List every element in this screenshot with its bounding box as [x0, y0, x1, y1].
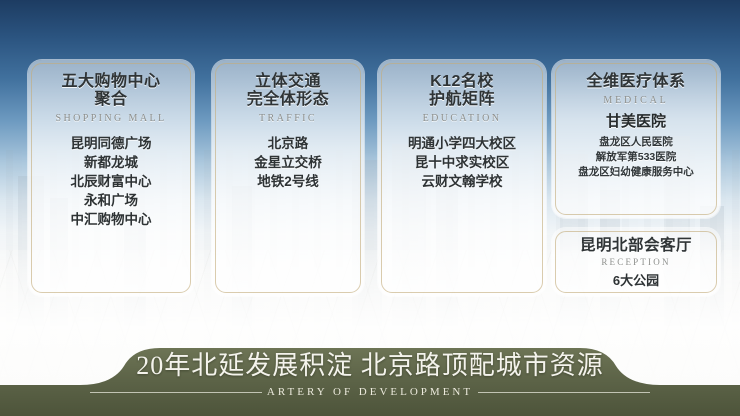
card-shopping-mall-inner: 五大购物中心 聚合 SHOPPING MALL 昆明同德广场 新都龙城 北辰财富…	[31, 63, 191, 293]
card-traffic-title-line2: 完全体形态	[247, 91, 330, 109]
card-education-title-line1: K12名校	[429, 73, 495, 91]
card-shopping-mall-item-list: 昆明同德广场 新都龙城 北辰财富中心 永和广场 中汇购物中心	[71, 134, 152, 229]
list-item: 解放军第533医院	[578, 150, 694, 165]
card-traffic-title-line1: 立体交通	[247, 73, 330, 91]
card-traffic-title: 立体交通 完全体形态	[247, 73, 330, 109]
card-traffic-item-list: 北京路 金星立交桥 地铁2号线	[254, 134, 322, 191]
card-education-inner: K12名校 护航矩阵 EDUCATION 明通小学四大校区 昆十中求实校区 云财…	[381, 63, 543, 293]
bottom-banner: 20年北延发展积淀 北京路顶配城市资源 ARTERY OF DEVELOPMEN…	[0, 336, 740, 416]
list-item: 盘龙区人民医院	[578, 135, 694, 150]
card-traffic-inner: 立体交通 完全体形态 TRAFFIC 北京路 金星立交桥 地铁2号线	[215, 63, 361, 293]
card-education-title-line2: 护航矩阵	[429, 91, 495, 109]
list-item: 地铁2号线	[254, 172, 322, 191]
card-education-subtitle: EDUCATION	[423, 113, 502, 124]
card-medical-title: 全维医疗体系	[586, 73, 685, 91]
card-education[interactable]: K12名校 护航矩阵 EDUCATION 明通小学四大校区 昆十中求实校区 云财…	[378, 60, 546, 296]
card-shopping-mall-title: 五大购物中心 聚合	[61, 73, 160, 109]
card-shopping-mall[interactable]: 五大购物中心 聚合 SHOPPING MALL 昆明同德广场 新都龙城 北辰财富…	[28, 60, 194, 296]
list-item: 北京路	[254, 134, 322, 153]
card-medical-title-line1: 全维医疗体系	[586, 73, 685, 91]
card-medical[interactable]: 全维医疗体系 MEDICAL 甘美医院 盘龙区人民医院 解放军第533医院 盘龙…	[552, 60, 720, 218]
card-reception-title-line1: 昆明北部会客厅	[580, 237, 692, 255]
list-item: 昆明同德广场	[71, 134, 152, 153]
card-medical-subtitle: MEDICAL	[603, 95, 668, 106]
list-item: 盘龙区妇幼健康服务中心	[578, 165, 694, 180]
card-shopping-mall-title-line1: 五大购物中心	[61, 73, 160, 91]
list-item: 6大公园	[613, 271, 659, 290]
card-reception[interactable]: 昆明北部会客厅 RECEPTION 6大公园	[552, 228, 720, 296]
banner-rule: ARTERY OF DEVELOPMENT	[90, 386, 650, 398]
card-reception-title: 昆明北部会客厅	[580, 237, 692, 255]
list-item: 中汇购物中心	[71, 210, 152, 229]
card-education-item-list: 明通小学四大校区 昆十中求实校区 云财文翰学校	[408, 134, 516, 191]
card-reception-inner: 昆明北部会客厅 RECEPTION 6大公园	[555, 231, 717, 293]
card-shopping-mall-title-line2: 聚合	[61, 91, 160, 109]
card-shopping-mall-subtitle: SHOPPING MALL	[56, 113, 167, 124]
banner-text-block: 20年北延发展积淀 北京路顶配城市资源 ARTERY OF DEVELOPMEN…	[0, 336, 740, 416]
feature-card-grid: 五大购物中心 聚合 SHOPPING MALL 昆明同德广场 新都龙城 北辰财富…	[0, 0, 740, 330]
banner-headline: 20年北延发展积淀 北京路顶配城市资源	[136, 351, 604, 381]
card-education-title: K12名校 护航矩阵	[429, 73, 495, 109]
card-medical-item-list: 盘龙区人民医院 解放军第533医院 盘龙区妇幼健康服务中心	[578, 135, 694, 180]
list-item: 昆十中求实校区	[408, 153, 516, 172]
banner-subline: ARTERY OF DEVELOPMENT	[257, 386, 483, 398]
card-medical-inner: 全维医疗体系 MEDICAL 甘美医院 盘龙区人民医院 解放军第533医院 盘龙…	[555, 63, 717, 215]
list-item: 云财文翰学校	[408, 172, 516, 191]
card-reception-subtitle: RECEPTION	[601, 257, 670, 267]
card-traffic[interactable]: 立体交通 完全体形态 TRAFFIC 北京路 金星立交桥 地铁2号线	[212, 60, 364, 296]
list-item: 北辰财富中心	[71, 172, 152, 191]
card-medical-lead: 甘美医院	[606, 112, 666, 132]
list-item: 金星立交桥	[254, 153, 322, 172]
list-item: 新都龙城	[71, 153, 152, 172]
list-item: 明通小学四大校区	[408, 134, 516, 153]
list-item: 永和广场	[71, 191, 152, 210]
card-traffic-subtitle: TRAFFIC	[259, 113, 317, 124]
poster-canvas: 五大购物中心 聚合 SHOPPING MALL 昆明同德广场 新都龙城 北辰财富…	[0, 0, 740, 416]
